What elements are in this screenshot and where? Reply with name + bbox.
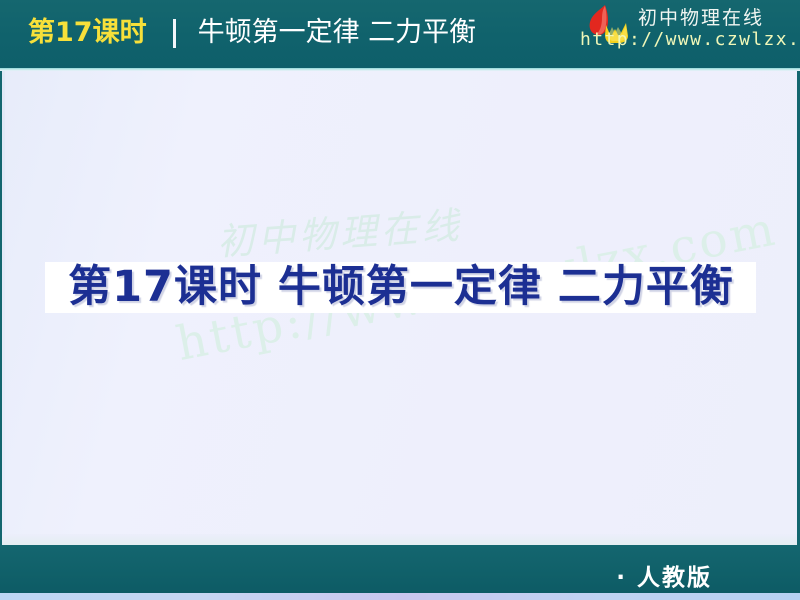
- brand-url-label: http://www.czwlzx.com: [580, 29, 800, 50]
- header-separator-bar: [173, 19, 176, 48]
- slide-canvas: 第17课时 牛顿第一定律 二力平衡 初中物理在线 http://www.czwl…: [0, 0, 800, 600]
- body-bottom-edge: [2, 534, 797, 545]
- footer-accent-strip: [0, 593, 800, 600]
- header-lesson-number: 第17课时: [28, 16, 147, 50]
- slide-main-title: 第17课时 牛顿第一定律 二力平衡: [48, 258, 754, 317]
- brand-name-label: 初中物理在线: [638, 3, 764, 30]
- header-topic-label: 牛顿第一定律 二力平衡: [198, 16, 477, 50]
- header-title-group: 第17课时 牛顿第一定律 二力平衡: [28, 16, 476, 50]
- body-left-edge: [2, 71, 5, 545]
- header-bar: 第17课时 牛顿第一定律 二力平衡 初中物理在线 http://www.czwl…: [0, 0, 800, 68]
- footer-edition-label: · 人教版: [616, 558, 712, 592]
- brand-block: 初中物理在线 http://www.czwlzx.com: [580, 1, 790, 63]
